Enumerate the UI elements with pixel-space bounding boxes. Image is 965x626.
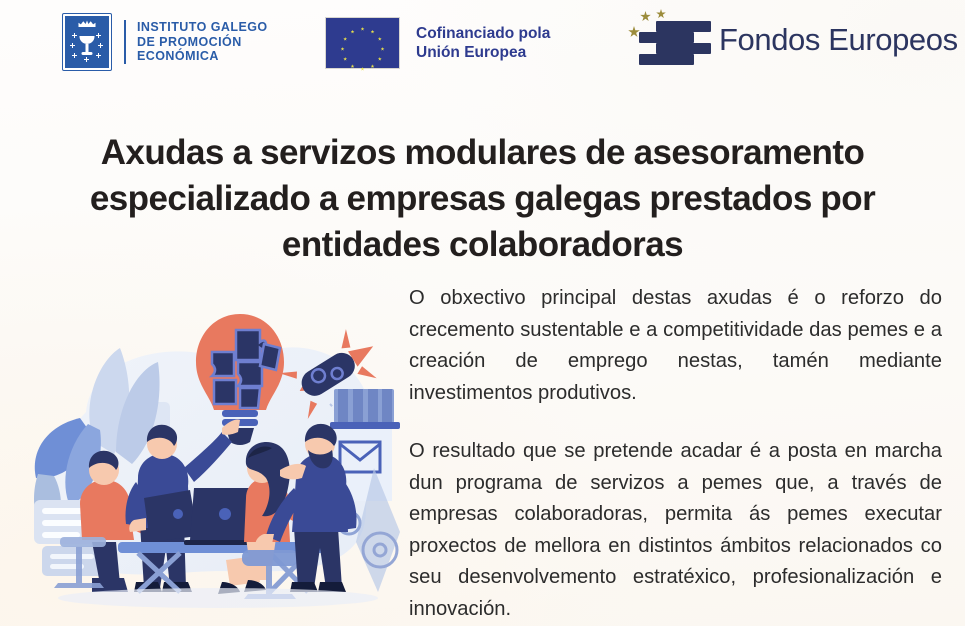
ige-line-3: ECONÓMICA (137, 49, 268, 64)
logo-header: INSTITUTO GALEGO DE PROMOCIÓN ECONÓMICA (0, 0, 965, 88)
eu-line-1: Cofinanciado pola (416, 24, 550, 43)
ige-line-2: DE PROMOCIÓN (137, 35, 268, 50)
floor-shadow (58, 588, 378, 608)
poster-page: INSTITUTO GALEGO DE PROMOCIÓN ECONÓMICA (0, 0, 965, 626)
paragraph-objective: O obxectivo principal destas axudas é o … (409, 283, 942, 409)
logo-divider (124, 20, 126, 64)
eu-line-2: Unión Europea (416, 43, 550, 62)
body-text-column: O obxectivo principal destas axudas é o … (409, 283, 942, 625)
fondos-europeos-mark-icon (625, 9, 711, 71)
page-title: Axudas a servizos modulares de asesorame… (36, 130, 929, 268)
xunta-coat-of-arms-icon (63, 14, 111, 70)
logo-union-europea-text: Cofinanciado pola Unión Europea (416, 24, 550, 62)
logo-fondos-europeos: Fondos Europeos (625, 9, 958, 71)
logo-fondos-europeos-text: Fondos Europeos (719, 22, 958, 58)
european-union-flag-icon (325, 17, 400, 69)
paragraph-result: O resultado que se pretende acadar é a p… (409, 436, 942, 625)
ige-line-1: INSTITUTO GALEGO (137, 20, 268, 35)
logo-union-europea: Cofinanciado pola Unión Europea (325, 17, 550, 69)
logo-instituto-galego: INSTITUTO GALEGO DE PROMOCIÓN ECONÓMICA (63, 14, 268, 70)
team-collaboration-illustration (8, 292, 400, 622)
logo-instituto-galego-text: INSTITUTO GALEGO DE PROMOCIÓN ECONÓMICA (137, 20, 268, 64)
